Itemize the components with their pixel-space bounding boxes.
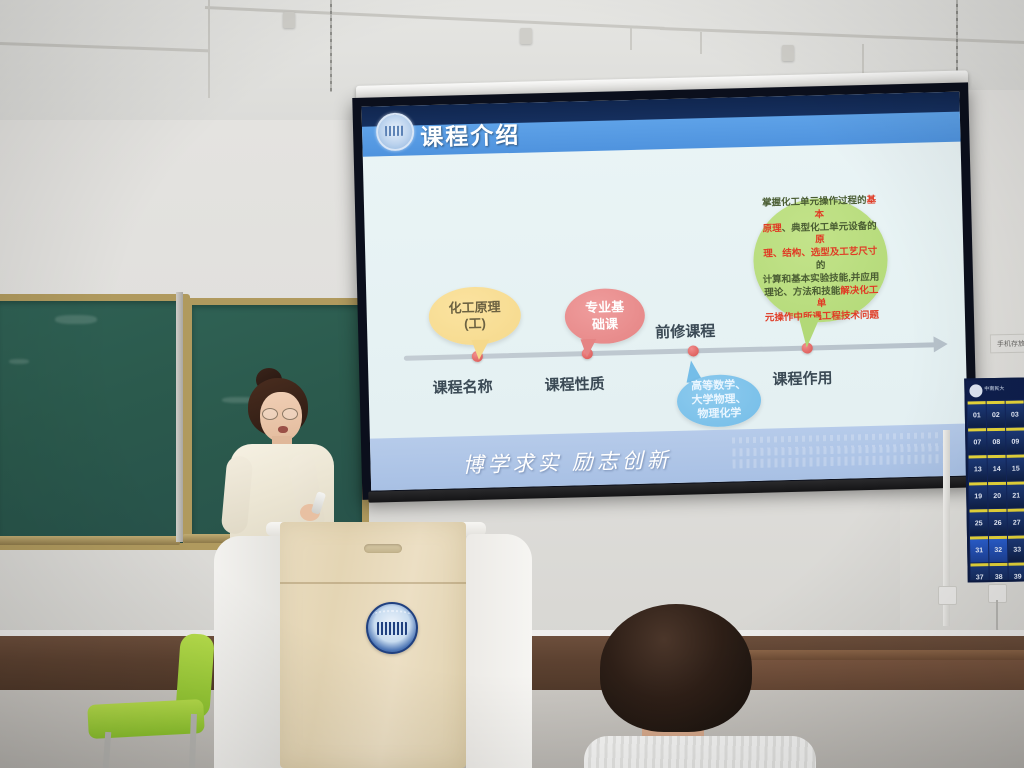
phone-storage-sign: 手机存放 [990,334,1024,354]
lecture-podium [214,522,532,768]
pocket-row: 010203 [967,400,1024,428]
phone-pocket-31[interactable]: 31 [970,536,988,562]
timeline-node-3 [688,345,699,356]
bubble-tail-course-name [471,340,490,360]
phone-pocket-13[interactable]: 13 [969,455,987,481]
wall-outlet-left[interactable] [938,586,957,605]
bubble-course-nature-line2: 础课 [585,316,624,333]
bubble-course-role: 掌握化工单元操作过程的基本原理、典型化工单元设备的原理、结构、选型及工艺尺寸的计… [752,197,889,324]
instructor-glasses-right [282,408,298,420]
bubble-course-name-line2: (工) [449,315,501,333]
podium-side-left [214,536,288,768]
podium-handle[interactable] [364,544,402,553]
bubble-course-nature-line1: 专业基 [585,299,624,316]
ceiling-bracket-c [782,45,794,61]
bubble-tail-course-nature [580,339,596,357]
board-divider-post [176,292,183,542]
timeline-label-1: 课程名称 [432,376,493,399]
slide-motto: 博学求实 励志创新 [462,444,672,479]
phone-pocket-25[interactable]: 25 [970,509,988,535]
phone-pocket-21[interactable]: 21 [1007,482,1024,508]
podium-panel-seam [280,582,466,584]
phone-pocket-20[interactable]: 20 [988,482,1006,508]
chalk-rail-left [0,536,180,545]
bubble-course-role-text: 掌握化工单元操作过程的基本原理、典型化工单元设备的原理、结构、选型及工艺尺寸的计… [752,194,889,325]
phone-pocket-32[interactable]: 32 [989,536,1007,562]
pocket-row: 252627 [968,507,1024,535]
ceiling-bracket-a [283,12,295,28]
phone-pocket-33[interactable]: 33 [1008,536,1024,562]
bubble-prereq-line2: 大学物理、 [691,393,746,408]
pocket-row: 373839 [969,561,1024,582]
presentation-slide: 课程介绍 课程名称 课程性质 前修课程 课程作用 化工原理 (工) [361,92,969,491]
ceiling-bracket-b [520,28,532,44]
phone-pocket-02[interactable]: 02 [987,401,1005,427]
organizer-logo-icon [969,384,982,397]
podium-side-right [466,534,532,768]
phone-pocket-03[interactable]: 03 [1006,401,1024,427]
pocket-row: 313233 [969,534,1024,562]
student-foreground [588,604,808,768]
phone-pocket-26[interactable]: 26 [989,509,1007,535]
bubble-course-role-line2: 原理、典型化工单元设备的原 [761,220,880,249]
phone-pocket-38[interactable]: 38 [989,563,1007,583]
phone-pocket-08[interactable]: 08 [987,428,1005,454]
phone-pocket-19[interactable]: 19 [969,482,987,508]
pocket-row: 192021 [968,480,1024,508]
phone-pocket-15[interactable]: 15 [1007,455,1024,481]
bubble-course-role-line6: 元操作中所遇工程技术问题 [763,310,881,326]
screen-border: 课程介绍 课程名称 课程性质 前修课程 课程作用 化工原理 (工) [352,82,978,499]
phone-pocket-14[interactable]: 14 [988,455,1006,481]
pocket-row: 131415 [968,453,1024,481]
student-hair [600,604,752,732]
phone-pocket-01[interactable]: 01 [968,401,986,427]
classroom-scene: 课程介绍 课程名称 课程性质 前修课程 课程作用 化工原理 (工) [0,0,1024,768]
pocket-grid: 0102030708091314151920212526273132333738… [967,400,1024,583]
bubble-tail-course-role [799,317,821,348]
bubble-prereq-line3: 物理化学 [692,407,747,422]
bubble-course-name-line1: 化工原理 [448,299,500,317]
pocket-row: 070809 [967,427,1024,455]
bubble-course-role-line3: 理、结构、选型及工艺尺寸的 [761,246,880,275]
bubble-course-role-line1: 掌握化工单元操作过程的基本 [760,195,879,224]
timeline-label-3: 前修课程 [655,320,716,343]
bubble-course-name: 化工原理 (工) [428,286,521,346]
bubble-course-role-line5: 理论、方法和技能解决化工单 [762,284,881,313]
timeline-arrow-head [933,336,947,352]
organizer-header: 中南民大 [966,380,1024,401]
phone-storage-organizer[interactable]: 中南民大 01020307080913141519202125262731323… [964,377,1024,582]
phone-pocket-37[interactable]: 37 [970,563,988,582]
instructor-glasses-left [262,408,278,420]
student-shirt [584,736,816,768]
instructor-mouth [278,426,288,433]
university-emblem [366,602,418,654]
slide-title: 课程介绍 [420,116,521,153]
ceiling-chain-left [330,0,332,92]
phone-pocket-39[interactable]: 39 [1008,562,1024,582]
phone-pocket-07[interactable]: 07 [968,428,986,454]
phone-pocket-09[interactable]: 09 [1006,428,1024,454]
campus-building-watermark [732,430,943,475]
instructor-at-podium [222,368,342,548]
timeline-label-2: 课程性质 [544,373,605,396]
bubble-prerequisites: 高等数学、 大学物理、 物理化学 [676,374,761,428]
green-chalkboard-left [0,294,190,550]
projection-screen: 课程介绍 课程名称 课程性质 前修课程 课程作用 化工原理 (工) [352,72,982,508]
timeline-label-4: 课程作用 [772,367,833,390]
phone-pocket-27[interactable]: 27 [1008,509,1024,535]
organizer-brand-text: 中南民大 [984,387,1004,393]
bubble-course-nature: 专业基 础课 [564,288,645,345]
